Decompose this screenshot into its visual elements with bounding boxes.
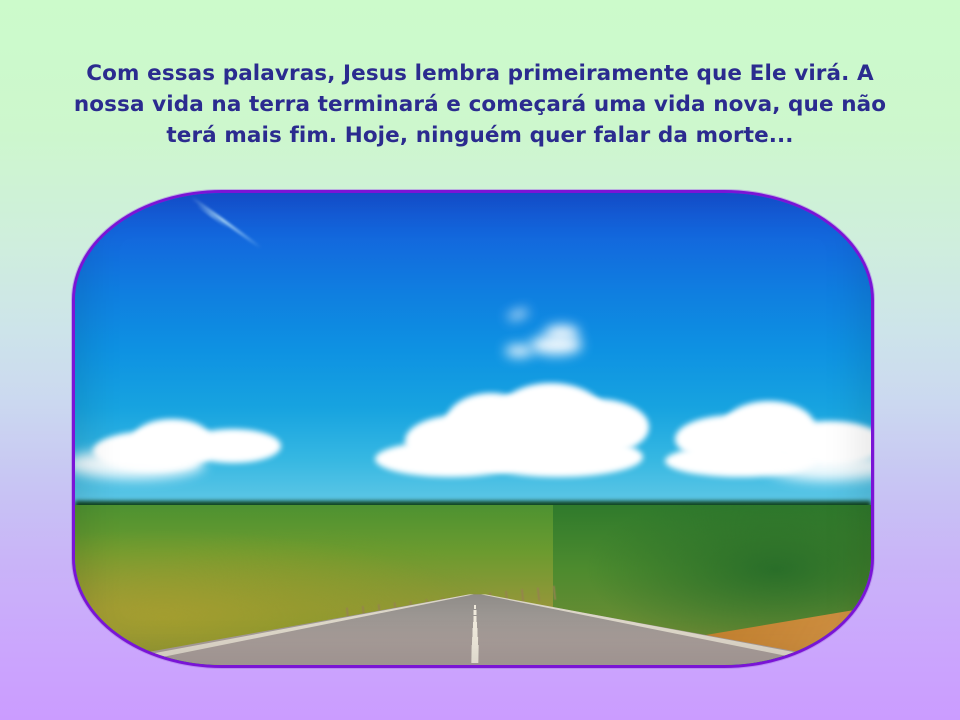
- ground-region: [75, 505, 871, 665]
- cloud-small-3: [505, 345, 533, 357]
- center-dash-3: [472, 628, 477, 639]
- cloud-small-2: [545, 325, 579, 340]
- center-dash-4: [473, 622, 477, 630]
- slide-caption-text: Com essas palavras, Jesus lembra primeir…: [38, 58, 922, 151]
- landscape-photo: [75, 193, 871, 665]
- center-dash-5: [473, 616, 476, 622]
- cloud-main-6: [473, 437, 643, 477]
- photo-frame: [72, 190, 874, 668]
- center-dash-6: [473, 610, 476, 615]
- center-dash-7: [474, 605, 476, 609]
